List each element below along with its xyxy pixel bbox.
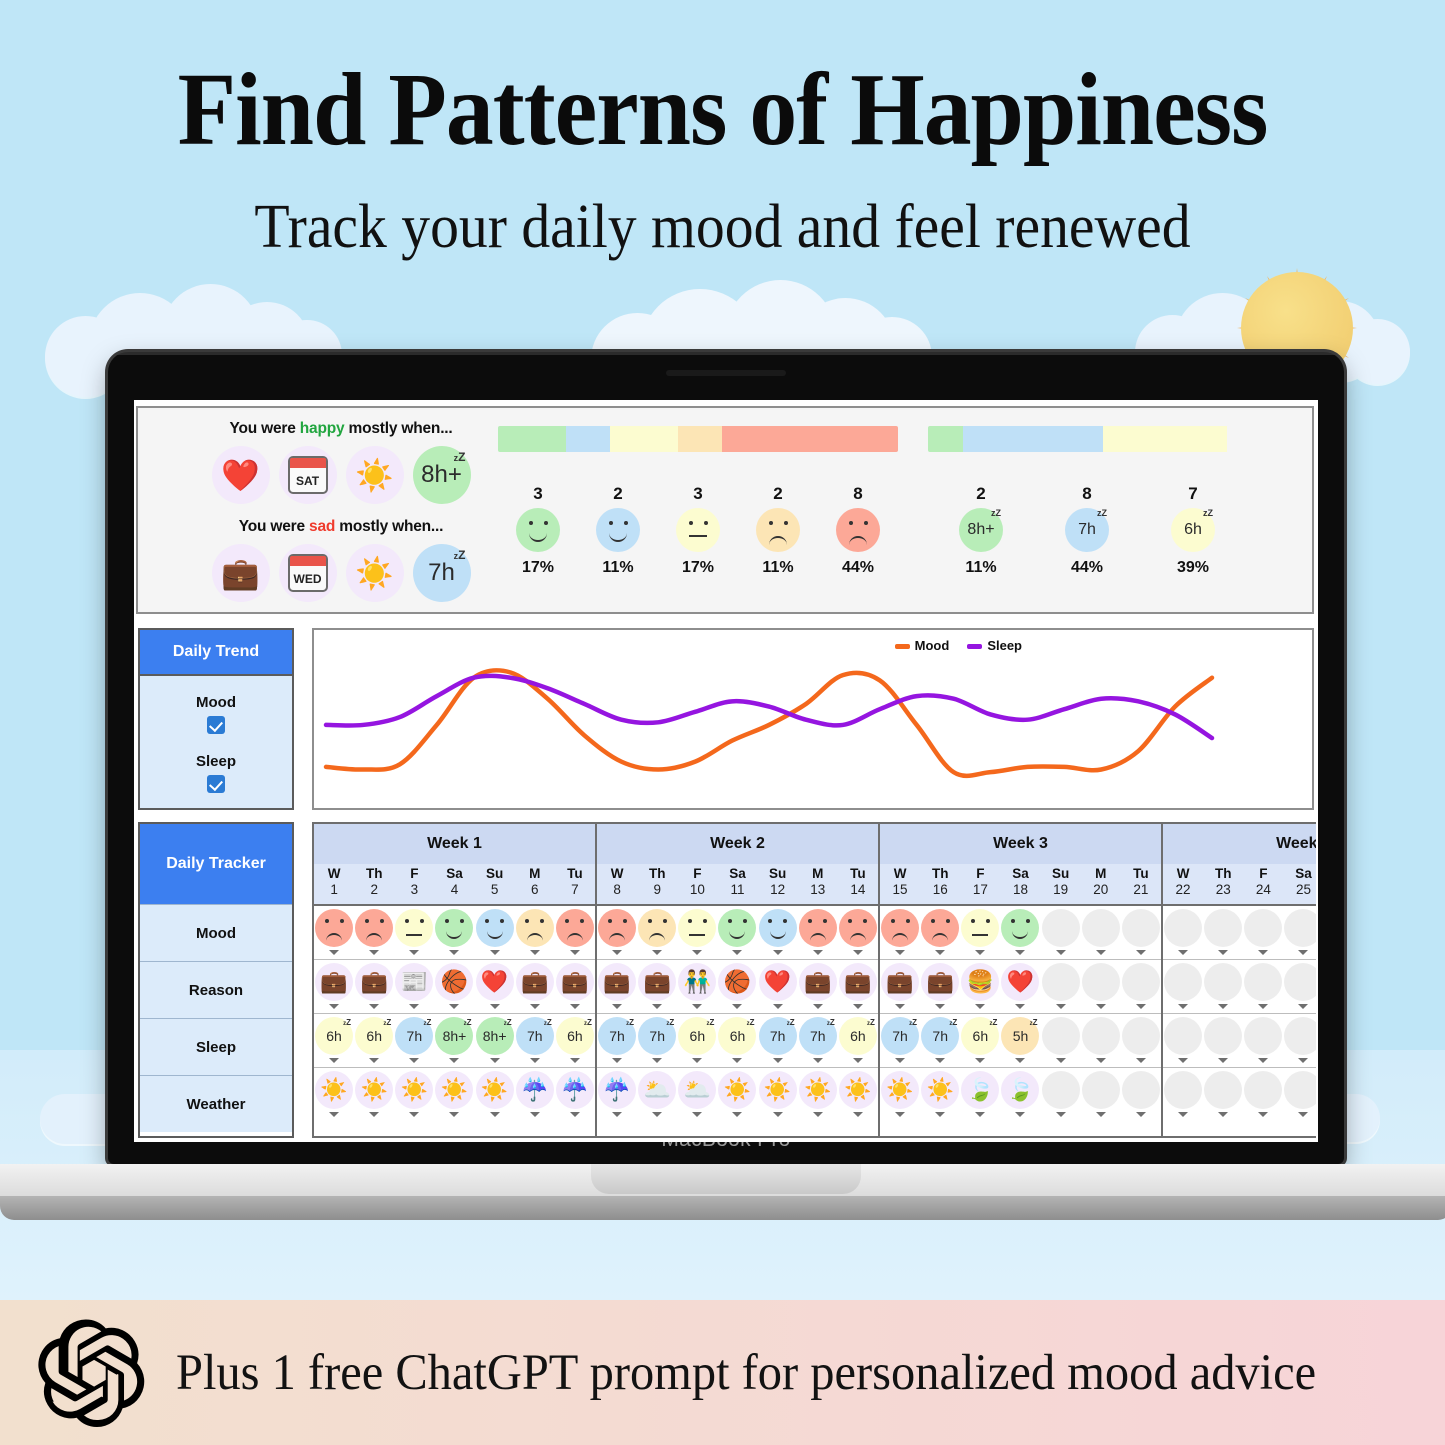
- tracker-cell[interactable]: [1121, 906, 1161, 959]
- chevron-down-icon[interactable]: [853, 1058, 863, 1063]
- empty-icon[interactable]: [1042, 1071, 1080, 1109]
- tracker-cell[interactable]: [1081, 1014, 1121, 1067]
- chevron-down-icon[interactable]: [895, 1112, 905, 1117]
- sun-icon[interactable]: ☀️: [759, 1071, 797, 1109]
- tracker-cell[interactable]: [880, 906, 920, 959]
- empty-icon[interactable]: [1204, 963, 1242, 1001]
- chevron-down-icon[interactable]: [409, 1004, 419, 1009]
- chevron-down-icon[interactable]: [732, 1058, 742, 1063]
- chevron-down-icon[interactable]: [570, 1004, 580, 1009]
- chevron-down-icon[interactable]: [369, 1058, 379, 1063]
- sleep-dot[interactable]: [1244, 1017, 1282, 1055]
- chevron-down-icon[interactable]: [1136, 1112, 1146, 1117]
- chevron-down-icon[interactable]: [449, 950, 459, 955]
- tracker-cell[interactable]: [1081, 1068, 1121, 1122]
- tracker-cell[interactable]: [555, 906, 595, 959]
- tracker-cell[interactable]: [1121, 1014, 1161, 1067]
- chevron-down-icon[interactable]: [1218, 1004, 1228, 1009]
- chevron-down-icon[interactable]: [935, 1058, 945, 1063]
- chevron-down-icon[interactable]: [732, 1112, 742, 1117]
- chevron-down-icon[interactable]: [1258, 1004, 1268, 1009]
- chevron-down-icon[interactable]: [652, 950, 662, 955]
- tracker-cell[interactable]: 🏀: [434, 960, 474, 1013]
- tracker-cell[interactable]: [354, 906, 394, 959]
- tracker-cell[interactable]: 🍔: [960, 960, 1000, 1013]
- newspaper-icon[interactable]: 📰: [395, 963, 433, 1001]
- chevron-down-icon[interactable]: [1136, 1058, 1146, 1063]
- umbrella-rain-icon[interactable]: ☔: [598, 1071, 636, 1109]
- mood-dot[interactable]: [1204, 909, 1242, 947]
- chevron-down-icon[interactable]: [1178, 950, 1188, 955]
- tracker-cell[interactable]: 7hzZ: [920, 1014, 960, 1067]
- mood-dot[interactable]: [1042, 909, 1080, 947]
- sleep-dot[interactable]: 6hzZ: [355, 1017, 393, 1055]
- empty-icon[interactable]: [1244, 1071, 1282, 1109]
- chevron-down-icon[interactable]: [612, 950, 622, 955]
- chevron-down-icon[interactable]: [935, 1004, 945, 1009]
- tracker-cell[interactable]: 6hzZ: [838, 1014, 878, 1067]
- tracker-cell[interactable]: 7hzZ: [758, 1014, 798, 1067]
- mood-dot[interactable]: [516, 909, 554, 947]
- tracker-cell[interactable]: [1081, 906, 1121, 959]
- chevron-down-icon[interactable]: [329, 1112, 339, 1117]
- tracker-cell[interactable]: 7hzZ: [394, 1014, 434, 1067]
- umbrella-rain-icon[interactable]: ☔: [516, 1071, 554, 1109]
- tracker-cell[interactable]: ☀️: [758, 1068, 798, 1122]
- cloud-icon[interactable]: 🌥️: [638, 1071, 676, 1109]
- chevron-down-icon[interactable]: [1096, 1058, 1106, 1063]
- mood-dot[interactable]: [881, 909, 919, 947]
- sun-icon[interactable]: ☀️: [346, 544, 404, 602]
- briefcase-icon[interactable]: 💼: [799, 963, 837, 1001]
- chevron-down-icon[interactable]: [895, 950, 905, 955]
- tracker-cell[interactable]: [1041, 906, 1081, 959]
- heart-icon[interactable]: ❤️: [1001, 963, 1039, 1001]
- chevron-down-icon[interactable]: [853, 950, 863, 955]
- chevron-down-icon[interactable]: [692, 1112, 702, 1117]
- empty-icon[interactable]: [1122, 1071, 1160, 1109]
- mood-dot[interactable]: [1082, 909, 1120, 947]
- chevron-down-icon[interactable]: [773, 1058, 783, 1063]
- tracker-cell[interactable]: [1243, 1068, 1283, 1122]
- sleep-dot[interactable]: [1164, 1017, 1202, 1055]
- chevron-down-icon[interactable]: [490, 950, 500, 955]
- chevron-down-icon[interactable]: [449, 1058, 459, 1063]
- chevron-down-icon[interactable]: [329, 1004, 339, 1009]
- mood-dot[interactable]: [315, 909, 353, 947]
- tracker-cell[interactable]: 💼: [597, 960, 637, 1013]
- chevron-down-icon[interactable]: [490, 1112, 500, 1117]
- calendar-sat-icon[interactable]: SAT: [279, 446, 337, 504]
- tracker-cell[interactable]: ☀️: [394, 1068, 434, 1122]
- sun-icon[interactable]: ☀️: [839, 1071, 877, 1109]
- chevron-down-icon[interactable]: [1298, 950, 1308, 955]
- tracker-cell[interactable]: 5hzZ: [1000, 1014, 1040, 1067]
- tracker-cell[interactable]: 💼: [920, 960, 960, 1013]
- tracker-cell[interactable]: 6hzZ: [314, 1014, 354, 1067]
- mood-dot[interactable]: [921, 909, 959, 947]
- chevron-down-icon[interactable]: [449, 1112, 459, 1117]
- chevron-down-icon[interactable]: [895, 1004, 905, 1009]
- mood-dot[interactable]: [1284, 909, 1316, 947]
- tracker-cell[interactable]: [838, 906, 878, 959]
- briefcase-icon[interactable]: 💼: [881, 963, 919, 1001]
- empty-icon[interactable]: [1284, 1071, 1316, 1109]
- chevron-down-icon[interactable]: [1178, 1112, 1188, 1117]
- briefcase-icon[interactable]: 💼: [355, 963, 393, 1001]
- chevron-down-icon[interactable]: [1056, 1004, 1066, 1009]
- chevron-down-icon[interactable]: [1298, 1004, 1308, 1009]
- sleep-8h-plus-icon[interactable]: 8h+zZ: [413, 446, 471, 504]
- tracker-cell[interactable]: [1203, 906, 1243, 959]
- chevron-down-icon[interactable]: [813, 1004, 823, 1009]
- tracker-cell[interactable]: ☔: [597, 1068, 637, 1122]
- briefcase-icon[interactable]: 💼: [212, 544, 270, 602]
- chevron-down-icon[interactable]: [773, 1004, 783, 1009]
- tracker-cell[interactable]: [1283, 1014, 1316, 1067]
- sleep-dot[interactable]: [1204, 1017, 1242, 1055]
- chevron-down-icon[interactable]: [813, 1058, 823, 1063]
- tracker-cell[interactable]: ☀️: [475, 1068, 515, 1122]
- sleep-dot[interactable]: 7hzZ: [395, 1017, 433, 1055]
- tracker-cell[interactable]: [1163, 1014, 1203, 1067]
- chevron-down-icon[interactable]: [652, 1004, 662, 1009]
- chevron-down-icon[interactable]: [1015, 1112, 1025, 1117]
- tracker-cell[interactable]: [1203, 1068, 1243, 1122]
- wind-icon[interactable]: 🍃: [1001, 1071, 1039, 1109]
- chevron-down-icon[interactable]: [813, 950, 823, 955]
- burger-icon[interactable]: 🍔: [961, 963, 999, 1001]
- tracker-cell[interactable]: [1283, 1068, 1316, 1122]
- tracker-cell[interactable]: ☀️: [354, 1068, 394, 1122]
- mood-dot[interactable]: [476, 909, 514, 947]
- chevron-down-icon[interactable]: [530, 1004, 540, 1009]
- chevron-down-icon[interactable]: [490, 1004, 500, 1009]
- chevron-down-icon[interactable]: [1056, 950, 1066, 955]
- empty-icon[interactable]: [1122, 963, 1160, 1001]
- sleep-dot[interactable]: [1284, 1017, 1316, 1055]
- tracker-cell[interactable]: [1243, 1014, 1283, 1067]
- friends-icon[interactable]: 👬: [678, 963, 716, 1001]
- chevron-down-icon[interactable]: [895, 1058, 905, 1063]
- chevron-down-icon[interactable]: [1096, 950, 1106, 955]
- heart-icon[interactable]: ❤️: [759, 963, 797, 1001]
- wind-icon[interactable]: 🍃: [961, 1071, 999, 1109]
- chevron-down-icon[interactable]: [490, 1058, 500, 1063]
- chevron-down-icon[interactable]: [1258, 1058, 1268, 1063]
- tracker-cell[interactable]: 6hzZ: [677, 1014, 717, 1067]
- briefcase-icon[interactable]: 💼: [598, 963, 636, 1001]
- tracker-cell[interactable]: [920, 906, 960, 959]
- chevron-down-icon[interactable]: [570, 1058, 580, 1063]
- sleep-dot[interactable]: 7hzZ: [799, 1017, 837, 1055]
- tracker-cell[interactable]: 💼: [880, 960, 920, 1013]
- tracker-cell[interactable]: [314, 906, 354, 959]
- sleep-dot[interactable]: 5hzZ: [1001, 1017, 1039, 1055]
- sun-icon[interactable]: ☀️: [881, 1071, 919, 1109]
- sun-icon[interactable]: ☀️: [718, 1071, 756, 1109]
- tracker-cell[interactable]: [637, 906, 677, 959]
- chevron-down-icon[interactable]: [732, 950, 742, 955]
- tracker-cell[interactable]: 7hzZ: [637, 1014, 677, 1067]
- empty-icon[interactable]: [1284, 963, 1316, 1001]
- tracker-cell[interactable]: ☀️: [314, 1068, 354, 1122]
- tracker-cell[interactable]: [717, 906, 757, 959]
- sleep-dot[interactable]: 6hzZ: [315, 1017, 353, 1055]
- cloud-icon[interactable]: 🌥️: [678, 1071, 716, 1109]
- chevron-down-icon[interactable]: [1096, 1004, 1106, 1009]
- chevron-down-icon[interactable]: [692, 1058, 702, 1063]
- tracker-cell[interactable]: 💼: [555, 960, 595, 1013]
- sun-icon[interactable]: ☀️: [315, 1071, 353, 1109]
- mood-dot[interactable]: [1122, 909, 1160, 947]
- empty-icon[interactable]: [1164, 1071, 1202, 1109]
- chevron-down-icon[interactable]: [1096, 1112, 1106, 1117]
- mood-dot[interactable]: [961, 909, 999, 947]
- briefcase-icon[interactable]: 💼: [516, 963, 554, 1001]
- sun-icon[interactable]: ☀️: [921, 1071, 959, 1109]
- sleep-dot[interactable]: 7hzZ: [921, 1017, 959, 1055]
- tracker-cell[interactable]: [1163, 960, 1203, 1013]
- sun-icon[interactable]: ☀️: [355, 1071, 393, 1109]
- sleep-dot[interactable]: 6hzZ: [556, 1017, 594, 1055]
- chevron-down-icon[interactable]: [570, 950, 580, 955]
- sun-icon[interactable]: ☀️: [435, 1071, 473, 1109]
- chevron-down-icon[interactable]: [935, 1112, 945, 1117]
- sleep-dot[interactable]: [1042, 1017, 1080, 1055]
- empty-icon[interactable]: [1244, 963, 1282, 1001]
- chevron-down-icon[interactable]: [1218, 950, 1228, 955]
- tracker-cell[interactable]: 💼: [637, 960, 677, 1013]
- chevron-down-icon[interactable]: [1136, 1004, 1146, 1009]
- tracker-cell[interactable]: 6hzZ: [354, 1014, 394, 1067]
- chevron-down-icon[interactable]: [773, 1112, 783, 1117]
- chevron-down-icon[interactable]: [530, 1058, 540, 1063]
- chevron-down-icon[interactable]: [975, 1058, 985, 1063]
- chevron-down-icon[interactable]: [732, 1004, 742, 1009]
- tracker-cell[interactable]: 7hzZ: [515, 1014, 555, 1067]
- chevron-down-icon[interactable]: [1056, 1112, 1066, 1117]
- empty-icon[interactable]: [1082, 963, 1120, 1001]
- chevron-down-icon[interactable]: [409, 1112, 419, 1117]
- chevron-down-icon[interactable]: [1258, 1112, 1268, 1117]
- briefcase-icon[interactable]: 💼: [638, 963, 676, 1001]
- chevron-down-icon[interactable]: [1056, 1058, 1066, 1063]
- sun-icon[interactable]: ☀️: [799, 1071, 837, 1109]
- tracker-cell[interactable]: [677, 906, 717, 959]
- mood-dot[interactable]: [638, 909, 676, 947]
- tracker-cell[interactable]: [1203, 960, 1243, 1013]
- tracker-cell[interactable]: [597, 906, 637, 959]
- sleep-dot[interactable]: 6hzZ: [839, 1017, 877, 1055]
- tracker-cell[interactable]: ☀️: [717, 1068, 757, 1122]
- briefcase-icon[interactable]: 💼: [315, 963, 353, 1001]
- tracker-cell[interactable]: [1243, 906, 1283, 959]
- heart-icon[interactable]: ❤️: [476, 963, 514, 1001]
- tracker-cell[interactable]: 6hzZ: [960, 1014, 1000, 1067]
- tracker-cell[interactable]: 🌥️: [637, 1068, 677, 1122]
- tracker-cell[interactable]: [394, 906, 434, 959]
- chevron-down-icon[interactable]: [1218, 1058, 1228, 1063]
- sleep-dot[interactable]: 7hzZ: [881, 1017, 919, 1055]
- trend-option-checkbox-mood[interactable]: [207, 716, 225, 734]
- chevron-down-icon[interactable]: [773, 950, 783, 955]
- tracker-cell[interactable]: [1041, 1068, 1081, 1122]
- sleep-dot[interactable]: 8h+zZ: [435, 1017, 473, 1055]
- mood-dot[interactable]: [678, 909, 716, 947]
- chevron-down-icon[interactable]: [1015, 1058, 1025, 1063]
- chevron-down-icon[interactable]: [449, 1004, 459, 1009]
- tracker-cell[interactable]: 👬: [677, 960, 717, 1013]
- empty-icon[interactable]: [1164, 963, 1202, 1001]
- tracker-cell[interactable]: [1121, 1068, 1161, 1122]
- chevron-down-icon[interactable]: [1178, 1058, 1188, 1063]
- chevron-down-icon[interactable]: [853, 1004, 863, 1009]
- tracker-cell[interactable]: 🏀: [717, 960, 757, 1013]
- tracker-cell[interactable]: 7hzZ: [880, 1014, 920, 1067]
- mood-dot[interactable]: [718, 909, 756, 947]
- mood-dot[interactable]: [395, 909, 433, 947]
- tracker-cell[interactable]: 💼: [515, 960, 555, 1013]
- chevron-down-icon[interactable]: [1298, 1058, 1308, 1063]
- tracker-cell[interactable]: 📰: [394, 960, 434, 1013]
- chevron-down-icon[interactable]: [369, 1112, 379, 1117]
- chevron-down-icon[interactable]: [692, 950, 702, 955]
- tracker-cell[interactable]: [1081, 960, 1121, 1013]
- mood-dot[interactable]: [1001, 909, 1039, 947]
- heart-icon[interactable]: ❤️: [212, 446, 270, 504]
- chevron-down-icon[interactable]: [1298, 1112, 1308, 1117]
- tracker-cell[interactable]: [1041, 1014, 1081, 1067]
- tracker-cell[interactable]: [1163, 906, 1203, 959]
- tracker-cell[interactable]: 6hzZ: [717, 1014, 757, 1067]
- chevron-down-icon[interactable]: [369, 1004, 379, 1009]
- tracker-cell[interactable]: [1000, 906, 1040, 959]
- mood-dot[interactable]: [1244, 909, 1282, 947]
- mood-dot[interactable]: [799, 909, 837, 947]
- chevron-down-icon[interactable]: [530, 950, 540, 955]
- sun-icon[interactable]: ☀️: [395, 1071, 433, 1109]
- tracker-cell[interactable]: [475, 906, 515, 959]
- tracker-cell[interactable]: 7hzZ: [798, 1014, 838, 1067]
- empty-icon[interactable]: [1042, 963, 1080, 1001]
- tracker-cell[interactable]: ☔: [515, 1068, 555, 1122]
- chevron-down-icon[interactable]: [570, 1112, 580, 1117]
- tracker-cell[interactable]: ☔: [555, 1068, 595, 1122]
- tracker-cell[interactable]: [1243, 960, 1283, 1013]
- tracker-cell[interactable]: [1203, 1014, 1243, 1067]
- chevron-down-icon[interactable]: [1015, 950, 1025, 955]
- chevron-down-icon[interactable]: [935, 950, 945, 955]
- chevron-down-icon[interactable]: [975, 1112, 985, 1117]
- briefcase-icon[interactable]: 💼: [556, 963, 594, 1001]
- mood-dot[interactable]: [355, 909, 393, 947]
- tracker-cell[interactable]: [798, 906, 838, 959]
- tracker-cell[interactable]: [1041, 960, 1081, 1013]
- mood-dot[interactable]: [1164, 909, 1202, 947]
- chevron-down-icon[interactable]: [692, 1004, 702, 1009]
- briefcase-icon[interactable]: 💼: [839, 963, 877, 1001]
- sleep-dot[interactable]: 7hzZ: [638, 1017, 676, 1055]
- chevron-down-icon[interactable]: [329, 950, 339, 955]
- tracker-cell[interactable]: ❤️: [1000, 960, 1040, 1013]
- tracker-cell[interactable]: ☀️: [880, 1068, 920, 1122]
- tracker-cell[interactable]: 💼: [314, 960, 354, 1013]
- chevron-down-icon[interactable]: [1015, 1004, 1025, 1009]
- tracker-cell[interactable]: 💼: [354, 960, 394, 1013]
- chevron-down-icon[interactable]: [409, 1058, 419, 1063]
- chevron-down-icon[interactable]: [409, 950, 419, 955]
- tracker-cell[interactable]: 💼: [798, 960, 838, 1013]
- sun-icon[interactable]: ☀️: [346, 446, 404, 504]
- sun-icon[interactable]: ☀️: [476, 1071, 514, 1109]
- tracker-cell[interactable]: [515, 906, 555, 959]
- empty-icon[interactable]: [1082, 1071, 1120, 1109]
- tracker-cell[interactable]: [758, 906, 798, 959]
- sleep-dot[interactable]: 8h+zZ: [476, 1017, 514, 1055]
- tracker-cell[interactable]: [1283, 906, 1316, 959]
- chevron-down-icon[interactable]: [369, 950, 379, 955]
- tracker-cell[interactable]: ❤️: [475, 960, 515, 1013]
- chevron-down-icon[interactable]: [853, 1112, 863, 1117]
- chevron-down-icon[interactable]: [975, 950, 985, 955]
- umbrella-rain-icon[interactable]: ☔: [556, 1071, 594, 1109]
- tracker-cell[interactable]: 🍃: [960, 1068, 1000, 1122]
- calendar-wed-icon[interactable]: WED: [279, 544, 337, 602]
- chevron-down-icon[interactable]: [652, 1058, 662, 1063]
- mood-dot[interactable]: [839, 909, 877, 947]
- tracker-cell[interactable]: 8h+zZ: [434, 1014, 474, 1067]
- sleep-dot[interactable]: 7hzZ: [516, 1017, 554, 1055]
- chevron-down-icon[interactable]: [1178, 1004, 1188, 1009]
- sleep-dot[interactable]: 6hzZ: [718, 1017, 756, 1055]
- mood-dot[interactable]: [556, 909, 594, 947]
- briefcase-icon[interactable]: 💼: [921, 963, 959, 1001]
- sleep-dot[interactable]: 6hzZ: [678, 1017, 716, 1055]
- tracker-cell[interactable]: 8h+zZ: [475, 1014, 515, 1067]
- sleep-dot[interactable]: 6hzZ: [961, 1017, 999, 1055]
- tracker-cell[interactable]: 7hzZ: [597, 1014, 637, 1067]
- basketball-icon[interactable]: 🏀: [718, 963, 756, 1001]
- tracker-cell[interactable]: 🌥️: [677, 1068, 717, 1122]
- tracker-cell[interactable]: [434, 906, 474, 959]
- chevron-down-icon[interactable]: [530, 1112, 540, 1117]
- tracker-cell[interactable]: [1121, 960, 1161, 1013]
- mood-dot[interactable]: [598, 909, 636, 947]
- basketball-icon[interactable]: 🏀: [435, 963, 473, 1001]
- tracker-cell[interactable]: [1283, 960, 1316, 1013]
- chevron-down-icon[interactable]: [813, 1112, 823, 1117]
- sleep-dot[interactable]: 7hzZ: [759, 1017, 797, 1055]
- tracker-cell[interactable]: ☀️: [838, 1068, 878, 1122]
- sleep-7h-icon[interactable]: 7hzZ: [413, 544, 471, 602]
- tracker-cell[interactable]: ☀️: [798, 1068, 838, 1122]
- chevron-down-icon[interactable]: [1136, 950, 1146, 955]
- chevron-down-icon[interactable]: [612, 1058, 622, 1063]
- chevron-down-icon[interactable]: [612, 1112, 622, 1117]
- tracker-cell[interactable]: 🍃: [1000, 1068, 1040, 1122]
- tracker-cell[interactable]: 💼: [838, 960, 878, 1013]
- trend-option-checkbox-sleep[interactable]: [207, 775, 225, 793]
- sleep-dot[interactable]: [1122, 1017, 1160, 1055]
- chevron-down-icon[interactable]: [975, 1004, 985, 1009]
- tracker-cell[interactable]: [960, 906, 1000, 959]
- empty-icon[interactable]: [1204, 1071, 1242, 1109]
- mood-dot[interactable]: [759, 909, 797, 947]
- sleep-dot[interactable]: [1082, 1017, 1120, 1055]
- sleep-dot[interactable]: 7hzZ: [598, 1017, 636, 1055]
- tracker-cell[interactable]: 6hzZ: [555, 1014, 595, 1067]
